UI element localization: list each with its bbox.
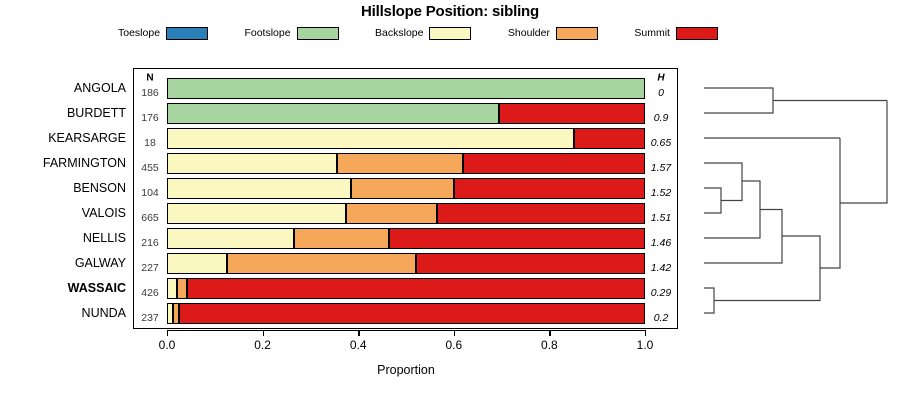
n-value: 455 bbox=[141, 162, 159, 174]
h-value: 0.65 bbox=[651, 137, 671, 149]
n-value: 227 bbox=[141, 262, 159, 274]
bar-segment-summit[interactable] bbox=[437, 203, 645, 224]
h-column-header: H bbox=[657, 73, 664, 84]
row-label-angola[interactable]: ANGOLA bbox=[74, 81, 126, 95]
n-value: 237 bbox=[141, 312, 159, 324]
bar-segment-summit[interactable] bbox=[499, 103, 645, 124]
bar-row[interactable] bbox=[167, 128, 645, 149]
legend-swatch-summit bbox=[676, 27, 718, 40]
legend-swatch-toeslope bbox=[166, 27, 208, 40]
dend-link-root bbox=[840, 101, 887, 204]
bar-segment-backslope[interactable] bbox=[167, 228, 294, 249]
legend-swatch-backslope bbox=[429, 27, 471, 40]
h-value: 1.51 bbox=[651, 212, 671, 224]
h-value: 1.46 bbox=[651, 237, 671, 249]
dend-link-angola-burdett bbox=[704, 88, 773, 113]
dend-link-galway-nfbv bbox=[704, 210, 782, 264]
n-value: 176 bbox=[141, 112, 159, 124]
h-value: 1.57 bbox=[651, 162, 671, 174]
x-tick-mark bbox=[454, 330, 455, 336]
row-label-wassaic[interactable]: WASSAIC bbox=[68, 281, 126, 295]
row-label-galway[interactable]: GALWAY bbox=[75, 256, 126, 270]
legend-label: Footslope bbox=[244, 27, 290, 39]
bar-row[interactable] bbox=[167, 203, 645, 224]
x-tick-mark bbox=[645, 330, 646, 336]
legend: ToeslopeFootslopeBackslopeShoulderSummit bbox=[118, 25, 718, 41]
x-axis-title: Proportion bbox=[167, 363, 645, 377]
legend-label: Toeslope bbox=[118, 27, 160, 39]
bar-segment-shoulder[interactable] bbox=[173, 303, 180, 324]
h-value: 0.9 bbox=[654, 112, 669, 124]
legend-label: Backslope bbox=[375, 27, 423, 39]
h-value: 0.2 bbox=[654, 312, 669, 324]
n-value: 216 bbox=[141, 237, 159, 249]
dendrogram bbox=[690, 60, 900, 340]
row-label-nunda[interactable]: NUNDA bbox=[82, 306, 126, 320]
dend-link-farmington-bv bbox=[704, 163, 742, 201]
bar-segment-shoulder[interactable] bbox=[337, 153, 464, 174]
row-label-benson[interactable]: BENSON bbox=[73, 181, 126, 195]
bar-segment-backslope[interactable] bbox=[167, 128, 574, 149]
x-tick-label: 1.0 bbox=[637, 338, 654, 352]
page-title: Hillslope Position: sibling bbox=[0, 3, 900, 20]
bar-segment-shoulder[interactable] bbox=[346, 203, 437, 224]
bar-segment-backslope[interactable] bbox=[167, 278, 177, 299]
legend-entry-backslope[interactable]: Backslope bbox=[375, 27, 471, 40]
dendrogram-svg bbox=[690, 60, 900, 340]
row-label-valois[interactable]: VALOIS bbox=[82, 206, 126, 220]
bar-segment-shoulder[interactable] bbox=[351, 178, 454, 199]
x-tick-mark bbox=[358, 330, 359, 336]
x-tick-label: 0.4 bbox=[350, 338, 367, 352]
bar-segment-backslope[interactable] bbox=[167, 253, 227, 274]
bar-row[interactable] bbox=[167, 153, 645, 174]
row-label-column: ANGOLABURDETTKEARSARGEFARMINGTONBENSONVA… bbox=[0, 68, 131, 329]
dend-link-nellis-fbv bbox=[704, 181, 760, 238]
n-column-header: N bbox=[146, 73, 153, 84]
x-tick-label: 0.0 bbox=[159, 338, 176, 352]
n-value: 18 bbox=[144, 137, 156, 149]
bar-segment-summit[interactable] bbox=[463, 153, 645, 174]
bar-segment-footslope[interactable] bbox=[167, 103, 499, 124]
x-tick-label: 0.6 bbox=[445, 338, 462, 352]
bar-segment-summit[interactable] bbox=[389, 228, 645, 249]
legend-entry-toeslope[interactable]: Toeslope bbox=[118, 27, 208, 40]
bar-row[interactable] bbox=[167, 78, 645, 99]
bar-segment-backslope[interactable] bbox=[167, 178, 351, 199]
bar-segment-shoulder[interactable] bbox=[227, 253, 416, 274]
legend-swatch-footslope bbox=[297, 27, 339, 40]
n-value: 426 bbox=[141, 287, 159, 299]
bar-segment-shoulder[interactable] bbox=[177, 278, 188, 299]
bar-segment-backslope[interactable] bbox=[167, 203, 346, 224]
legend-label: Summit bbox=[634, 27, 670, 39]
h-value: 1.42 bbox=[651, 262, 671, 274]
bar-row[interactable] bbox=[167, 178, 645, 199]
bar-segment-summit[interactable] bbox=[454, 178, 645, 199]
x-tick-label: 0.2 bbox=[254, 338, 271, 352]
x-tick-mark bbox=[549, 330, 550, 336]
dend-link-wn-bigcluster bbox=[714, 236, 820, 301]
legend-label: Shoulder bbox=[508, 27, 550, 39]
bar-row[interactable] bbox=[167, 228, 645, 249]
h-value: 1.52 bbox=[651, 187, 671, 199]
n-value: 186 bbox=[141, 87, 159, 99]
bar-segment-shoulder[interactable] bbox=[294, 228, 390, 249]
x-tick-mark bbox=[167, 330, 168, 336]
x-tick-label: 0.8 bbox=[541, 338, 558, 352]
legend-entry-summit[interactable]: Summit bbox=[634, 27, 718, 40]
x-tick-mark bbox=[263, 330, 264, 336]
dend-link-kearsarge-rest bbox=[820, 138, 840, 268]
row-label-burdett[interactable]: BURDETT bbox=[67, 106, 126, 120]
bar-segment-backslope[interactable] bbox=[167, 153, 337, 174]
n-value: 104 bbox=[141, 187, 159, 199]
row-label-farmington[interactable]: FARMINGTON bbox=[43, 156, 126, 170]
bar-segment-summit[interactable] bbox=[179, 303, 645, 324]
bar-segment-summit[interactable] bbox=[187, 278, 645, 299]
n-value: 665 bbox=[141, 212, 159, 224]
row-label-kearsarge[interactable]: KEARSARGE bbox=[48, 131, 126, 145]
bar-row[interactable] bbox=[167, 303, 645, 324]
bar-segment-footslope[interactable] bbox=[167, 78, 645, 99]
bar-row[interactable] bbox=[167, 278, 645, 299]
bar-row[interactable] bbox=[167, 253, 645, 274]
bar-segment-summit[interactable] bbox=[574, 128, 645, 149]
row-label-nellis[interactable]: NELLIS bbox=[83, 231, 126, 245]
legend-entry-shoulder[interactable]: Shoulder bbox=[508, 27, 598, 40]
dend-link-wassaic-nunda bbox=[704, 288, 714, 313]
dend-link-benson-valois bbox=[704, 188, 721, 213]
bar-row[interactable] bbox=[167, 103, 645, 124]
legend-entry-footslope[interactable]: Footslope bbox=[244, 27, 338, 40]
bar-segment-summit[interactable] bbox=[416, 253, 645, 274]
h-value: 0 bbox=[658, 87, 664, 99]
h-value: 0.29 bbox=[651, 287, 671, 299]
legend-swatch-shoulder bbox=[556, 27, 598, 40]
x-axis-line bbox=[167, 330, 645, 331]
